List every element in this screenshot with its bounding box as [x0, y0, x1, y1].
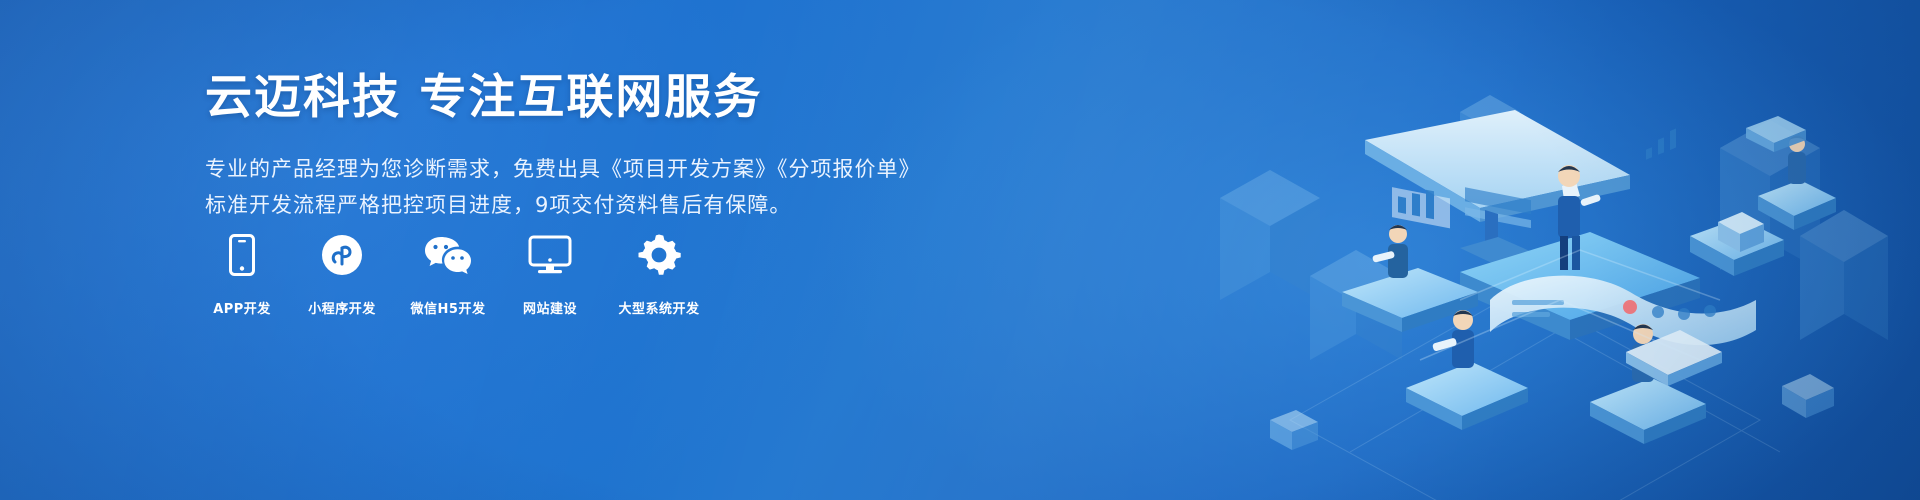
page-title: 云迈科技 专注互联网服务	[205, 70, 925, 125]
monitor-icon	[513, 232, 587, 278]
gear-icon	[609, 232, 709, 278]
subtitle-line-1: 专业的产品经理为您诊断需求，免费出具《项目开发方案》《分项报价单》	[205, 151, 925, 187]
service-label: APP开发	[205, 298, 279, 317]
service-label: 小程序开发	[301, 298, 383, 317]
service-item-wechat-h5[interactable]: 微信H5开发	[405, 232, 491, 317]
subtitle-line-2: 标准开发流程严格把控项目进度，9项交付资料售后有保障。	[205, 187, 925, 223]
service-label: 微信H5开发	[405, 298, 491, 317]
service-item-large-system[interactable]: 大型系统开发	[609, 232, 709, 317]
hero-illustration	[1160, 0, 1920, 500]
hero-banner: 云迈科技 专注互联网服务 专业的产品经理为您诊断需求，免费出具《项目开发方案》《…	[0, 0, 1920, 500]
mini-program-icon	[301, 232, 383, 278]
service-item-website[interactable]: 网站建设	[513, 232, 587, 317]
hero-copy: 云迈科技 专注互联网服务 专业的产品经理为您诊断需求，免费出具《项目开发方案》《…	[205, 70, 925, 223]
service-list: APP开发 小程序开发	[205, 232, 709, 317]
wechat-icon	[405, 232, 491, 278]
hero-subtitle: 专业的产品经理为您诊断需求，免费出具《项目开发方案》《分项报价单》 标准开发流程…	[205, 151, 925, 223]
service-label: 大型系统开发	[609, 298, 709, 317]
service-label: 网站建设	[513, 298, 587, 317]
service-item-mini-program[interactable]: 小程序开发	[301, 232, 383, 317]
mobile-phone-icon	[205, 232, 279, 278]
service-item-app[interactable]: APP开发	[205, 232, 279, 317]
